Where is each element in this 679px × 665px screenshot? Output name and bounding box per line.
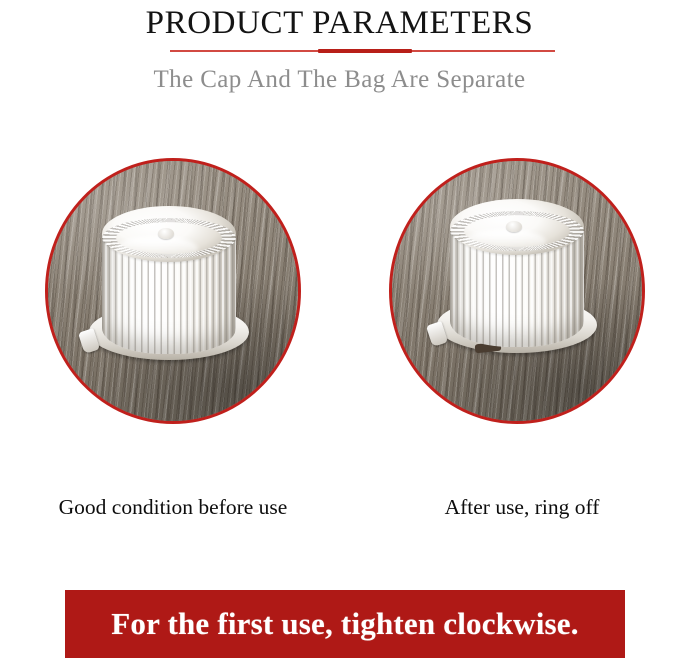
photo-gallery bbox=[0, 158, 679, 430]
photo-after-use bbox=[389, 158, 645, 424]
page-title: PRODUCT PARAMETERS bbox=[0, 0, 679, 43]
product-parameters-infographic: PRODUCT PARAMETERS The Cap And The Bag A… bbox=[0, 0, 679, 665]
cap-center-nub-left bbox=[158, 228, 174, 239]
cap-center-nub-right bbox=[506, 221, 522, 232]
divider-accent-segment bbox=[318, 49, 412, 53]
cap-highlight-left bbox=[116, 236, 198, 262]
instruction-banner-text: For the first use, tighten clockwise. bbox=[111, 605, 578, 643]
instruction-banner: For the first use, tighten clockwise. bbox=[65, 590, 625, 658]
caption-before-use: Good condition before use bbox=[8, 492, 338, 522]
bottle-cap-intact bbox=[102, 206, 236, 356]
photo-before-use bbox=[45, 158, 301, 424]
cap-highlight-right bbox=[464, 229, 546, 255]
bottle-cap-ring-off bbox=[450, 199, 584, 349]
header: PRODUCT PARAMETERS bbox=[0, 0, 679, 43]
caption-after-use: After use, ring off bbox=[372, 492, 672, 522]
page-subtitle: The Cap And The Bag Are Separate bbox=[0, 64, 679, 96]
photo-captions: Good condition before use After use, rin… bbox=[0, 492, 679, 528]
title-divider bbox=[170, 49, 555, 52]
